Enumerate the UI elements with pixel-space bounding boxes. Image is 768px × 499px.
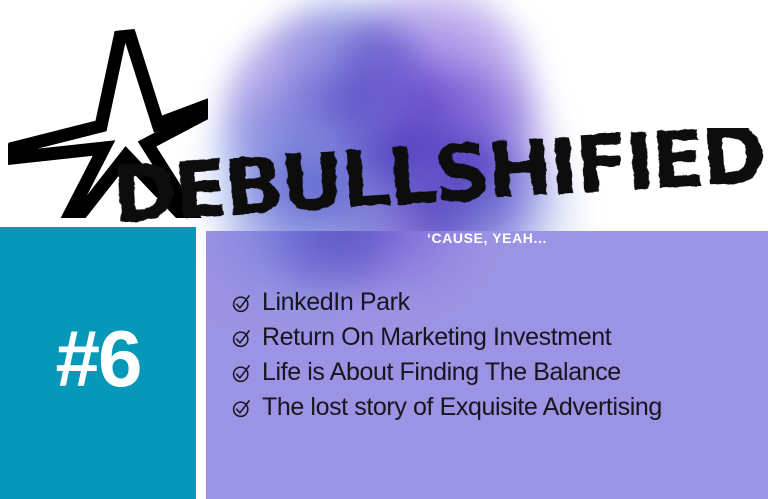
newsletter-cover: DEBULLSHIFIED #6 ‘CAUSE, YEAH... LinkedI…: [0, 0, 768, 499]
circled-check-icon: [232, 399, 251, 418]
issue-number-label: #6: [56, 319, 141, 399]
list-item-label: LinkedIn Park: [262, 288, 410, 317]
brand-wordmark: DEBULLSHIFIED: [108, 128, 764, 224]
tagline-text: ‘CAUSE, YEAH...: [206, 230, 768, 246]
list-item-label: The lost story of Exquisite Advertising: [262, 393, 662, 422]
list-item-label: Life is About Finding The Balance: [262, 358, 621, 387]
circled-check-icon: [232, 329, 251, 348]
circled-check-icon: [232, 364, 251, 383]
issue-number-panel: #6: [0, 227, 196, 499]
circled-check-icon: [232, 294, 251, 313]
wordmark-text: DEBULLSHIFIED: [110, 128, 764, 224]
list-item[interactable]: Life is About Finding The Balance: [232, 358, 662, 393]
list-item-label: Return On Marketing Investment: [262, 323, 611, 352]
list-item[interactable]: LinkedIn Park: [232, 288, 662, 323]
list-item[interactable]: The lost story of Exquisite Advertising: [232, 393, 662, 428]
watercolor-blob: [275, 0, 425, 120]
list-item[interactable]: Return On Marketing Investment: [232, 323, 662, 358]
topics-list: LinkedIn Park Return On Marketing Invest…: [232, 288, 662, 428]
